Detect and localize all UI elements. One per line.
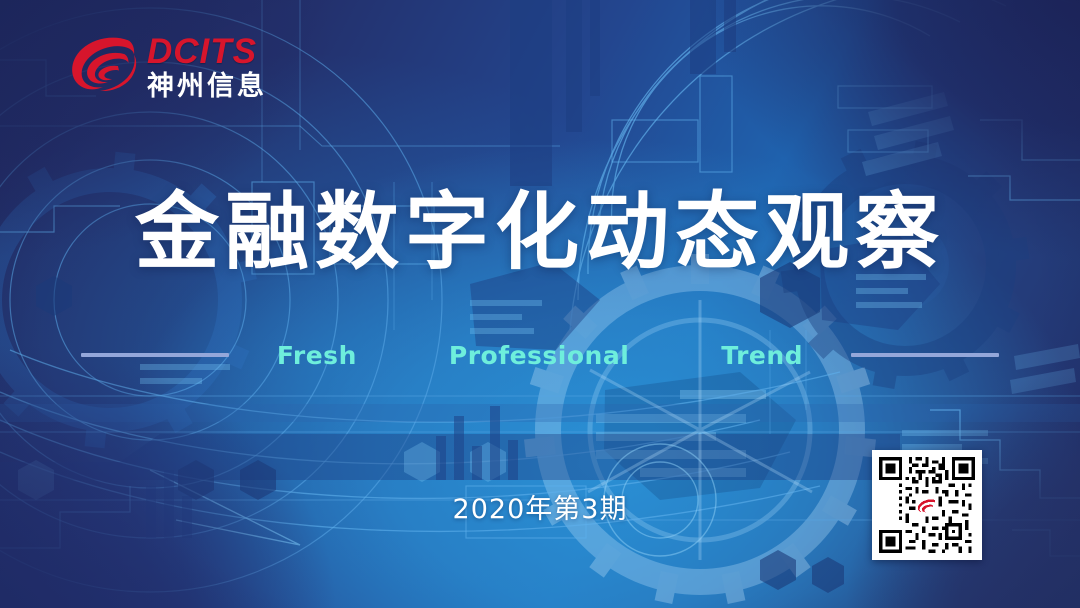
tagline-words: Fresh Professional Trend (277, 341, 803, 370)
tagline-rule-right (851, 353, 999, 357)
dcits-swirl-icon (68, 33, 138, 101)
tagline-rule-left (81, 353, 229, 357)
tagline-word-fresh: Fresh (277, 341, 357, 370)
brand-logo-text: DCITS 神州信息 (147, 34, 267, 100)
qr-code[interactable] (872, 450, 982, 560)
page-title: 金融数字化动态观察 (0, 188, 1080, 277)
brand-logo: DCITS 神州信息 (68, 33, 267, 101)
tagline-row: Fresh Professional Trend (0, 340, 1080, 370)
tagline-word-professional: Professional (449, 341, 629, 370)
slide-canvas: DCITS 神州信息 金融数字化动态观察 Fresh Professional … (0, 0, 1080, 608)
brand-wordmark: DCITS (147, 34, 267, 69)
tagline-word-trend: Trend (721, 341, 803, 370)
brand-chinese-name: 神州信息 (147, 73, 267, 100)
